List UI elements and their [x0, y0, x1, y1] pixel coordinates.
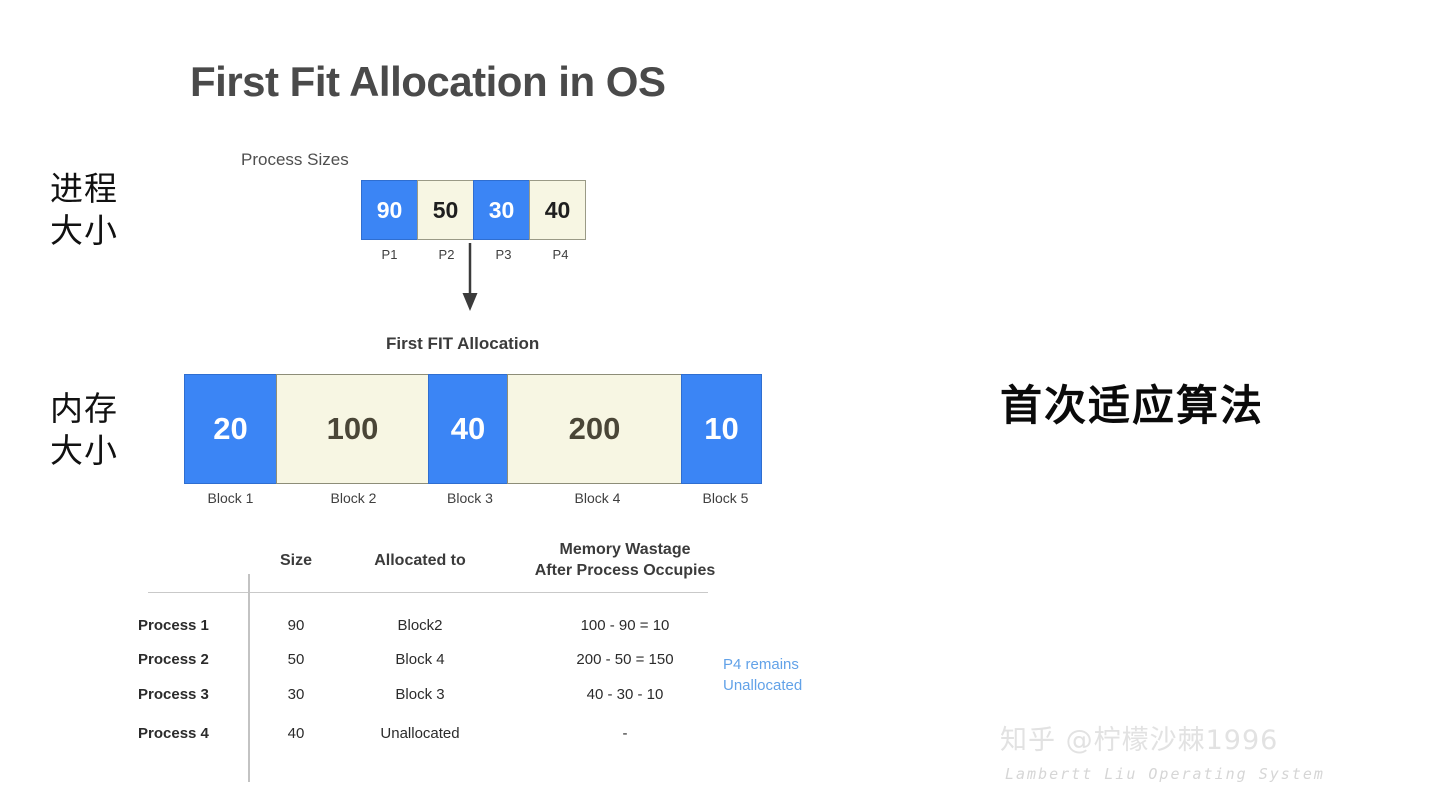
memory-blocks-bar: 201004020010 — [184, 374, 762, 484]
table-header-wastage-line1: Memory Wastage — [505, 540, 745, 561]
table-row-3-process: Process 3 — [138, 687, 238, 702]
table-row-3-size: 30 — [258, 687, 334, 702]
memory-cell-block-5: 10 — [681, 374, 762, 484]
table-column-divider — [248, 574, 250, 782]
memory-blocks-axis-labels: Block 1Block 2Block 3Block 4Block 5 — [184, 490, 766, 506]
side-label-process-line2: 大小 — [50, 210, 118, 252]
process-label-p4: P4 — [532, 247, 589, 262]
table-header-wastage-line2: After Process Occupies — [505, 561, 745, 582]
process-cell-p3: 30 — [473, 180, 530, 240]
memory-label-block-4: Block 4 — [510, 490, 685, 506]
page-title: First Fit Allocation in OS — [190, 58, 665, 106]
table-row-4-process: Process 4 — [138, 726, 238, 741]
table-row-3-wastage: 40 - 30 - 10 — [505, 687, 745, 702]
side-label-memory-line2: 大小 — [50, 430, 118, 472]
table-header-allocated-to: Allocated to — [350, 551, 490, 572]
table-row-1-allocated: Block2 — [350, 618, 490, 633]
table-header-size: Size — [258, 551, 334, 572]
table-header-memory-wastage: Memory Wastage After Process Occupies — [505, 540, 745, 582]
table-row-2-allocated: Block 4 — [350, 652, 490, 667]
table-row-4-size: 40 — [258, 726, 334, 741]
slide-canvas: First Fit Allocation in OS 进程 大小 内存 大小 首… — [0, 0, 1440, 810]
p4-note-line1: P4 remains — [723, 654, 802, 675]
process-cell-p4: 40 — [529, 180, 586, 240]
table-row-3-allocated: Block 3 — [350, 687, 490, 702]
side-label-process-line1: 进程 — [50, 168, 118, 210]
process-label-p3: P3 — [475, 247, 532, 262]
p4-unallocated-note: P4 remains Unallocated — [723, 654, 802, 697]
down-arrow-icon — [459, 243, 481, 313]
first-fit-caption: First FIT Allocation — [386, 334, 539, 354]
process-sizes-caption: Process Sizes — [241, 150, 349, 170]
right-heading-chinese: 首次适应算法 — [1000, 372, 1264, 433]
memory-label-block-1: Block 1 — [184, 490, 277, 506]
memory-label-block-5: Block 5 — [685, 490, 766, 506]
process-cell-p1: 90 — [361, 180, 418, 240]
side-label-memory-size: 内存 大小 — [50, 388, 118, 472]
process-label-p1: P1 — [361, 247, 418, 262]
footer-credit: Lambertt Liu Operating System — [1005, 765, 1325, 783]
memory-cell-block-4: 200 — [507, 374, 682, 484]
side-label-process-size: 进程 大小 — [50, 168, 118, 252]
process-cell-p2: 50 — [417, 180, 474, 240]
table-row-2-wastage: 200 - 50 = 150 — [505, 652, 745, 667]
memory-label-block-2: Block 2 — [277, 490, 430, 506]
memory-label-block-3: Block 3 — [430, 490, 510, 506]
table-row-2-size: 50 — [258, 652, 334, 667]
table-row-4-wastage: - — [505, 726, 745, 741]
table-row-4-allocated: Unallocated — [350, 726, 490, 741]
p4-note-line2: Unallocated — [723, 675, 802, 696]
table-row-1-process: Process 1 — [138, 618, 238, 633]
memory-cell-block-2: 100 — [276, 374, 429, 484]
memory-cell-block-3: 40 — [428, 374, 508, 484]
table-row-2-process: Process 2 — [138, 652, 238, 667]
table-row-1-size: 90 — [258, 618, 334, 633]
zhihu-watermark: 知乎 @柠檬沙棘1996 — [1000, 718, 1278, 757]
side-label-memory-line1: 内存 — [50, 388, 118, 430]
process-sizes-bar: 90503040 — [361, 180, 586, 240]
table-row-1-wastage: 100 - 90 = 10 — [505, 618, 745, 633]
table-header-divider — [148, 592, 708, 593]
memory-cell-block-1: 20 — [184, 374, 277, 484]
